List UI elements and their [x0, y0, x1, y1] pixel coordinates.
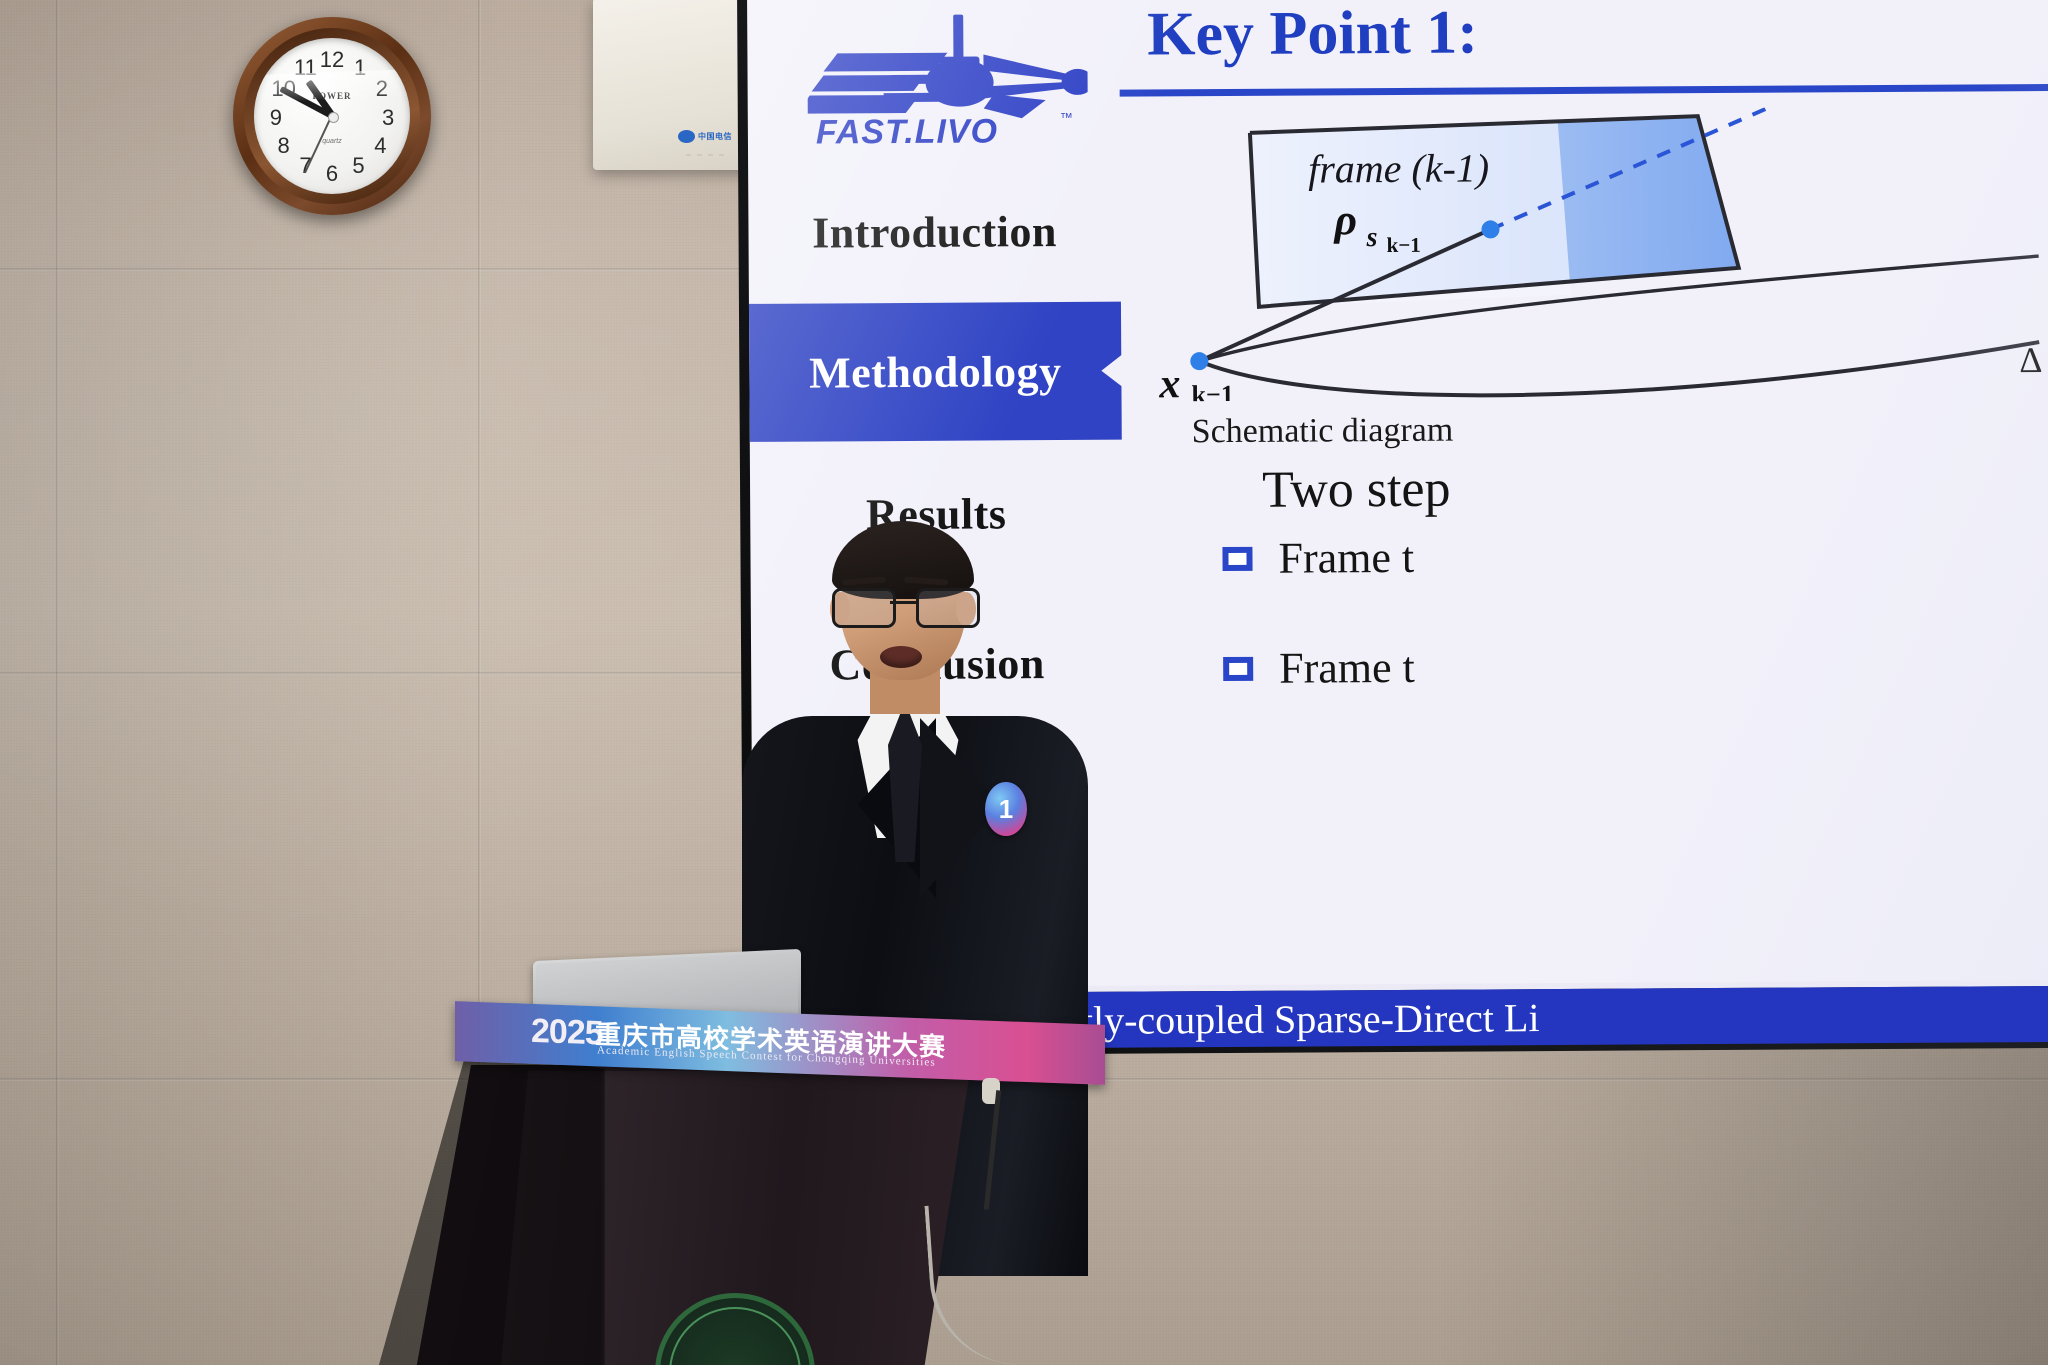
mouth: [880, 646, 922, 668]
clock-face: POWER quartz 12 1 2 3 4 5 6 7 8 9 10 11: [254, 38, 410, 194]
ap-logo-icon: [678, 130, 695, 143]
svg-text:ρ: ρ: [1332, 195, 1357, 244]
clock-numeral-8: 8: [271, 133, 297, 159]
nav-label-methodology: Methodology: [809, 346, 1062, 399]
contestant-number-badge: 1: [985, 782, 1027, 836]
bullet-square-icon: [1223, 656, 1253, 680]
svg-text:x: x: [1158, 361, 1180, 401]
slide-content-column: Key Point 1:: [1119, 0, 2048, 990]
ap-brand-label: 中国电信: [698, 131, 732, 142]
clock-numeral-3: 3: [375, 105, 401, 131]
schematic-diagram: frame (k-1) ρ s k−1 x k−1 Δ: [1138, 106, 2048, 402]
slide-nav-item-introduction[interactable]: Introduction: [748, 162, 1121, 302]
ap-logo: 中国电信: [678, 130, 732, 143]
bullet-label-1: Frame t: [1278, 532, 1414, 584]
bullet-label-2: Frame t: [1279, 642, 1415, 694]
svg-text:FAST.LIVO: FAST.LIVO: [816, 112, 998, 149]
wall-clock: POWER quartz 12 1 2 3 4 5 6 7 8 9 10 11: [233, 17, 431, 215]
svg-text:Δ: Δ: [2019, 340, 2042, 380]
slide-bullet-1: Frame t: [1222, 532, 1414, 584]
eyeglasses: [830, 588, 978, 624]
clock-numeral-12: 12: [319, 47, 345, 73]
clock-numeral-5: 5: [346, 153, 372, 179]
slide-heading: Key Point 1:: [1147, 0, 1478, 70]
slide-section-heading: Two step: [1262, 460, 1451, 520]
svg-text:frame (k-1): frame (k-1): [1308, 145, 1489, 191]
lens-left: [832, 588, 896, 628]
nav-active-caret-icon: [1101, 354, 1123, 388]
lens-right: [916, 588, 980, 628]
slide-heading-rule: [1120, 84, 2048, 97]
svg-text:k−1: k−1: [1387, 233, 1421, 257]
bullet-square-icon: [1222, 546, 1252, 570]
svg-text:k−1: k−1: [1191, 380, 1233, 402]
glasses-bridge: [890, 601, 916, 604]
emblem-ring: [669, 1307, 801, 1365]
diagram-caption: Schematic diagram: [1192, 412, 1454, 452]
clock-center-pin: [328, 112, 339, 123]
slide-bullet-2: Frame t: [1223, 642, 1415, 694]
badge-number: 1: [999, 794, 1013, 825]
svg-text:™: ™: [1060, 110, 1073, 125]
svg-text:s: s: [1365, 222, 1377, 253]
clock-numeral-9: 9: [263, 105, 289, 131]
nav-label-introduction: Introduction: [812, 206, 1057, 258]
banner-year: 2025: [531, 1012, 603, 1054]
clock-numeral-6: 6: [319, 161, 345, 187]
slide-nav-item-methodology[interactable]: Methodology: [749, 302, 1122, 442]
ap-status-leds: [686, 154, 724, 156]
fastlivo-logo: FAST.LIVO ™: [807, 8, 1088, 150]
presentation-scene: POWER quartz 12 1 2 3 4 5 6 7 8 9 10 11 …: [0, 0, 2048, 1365]
